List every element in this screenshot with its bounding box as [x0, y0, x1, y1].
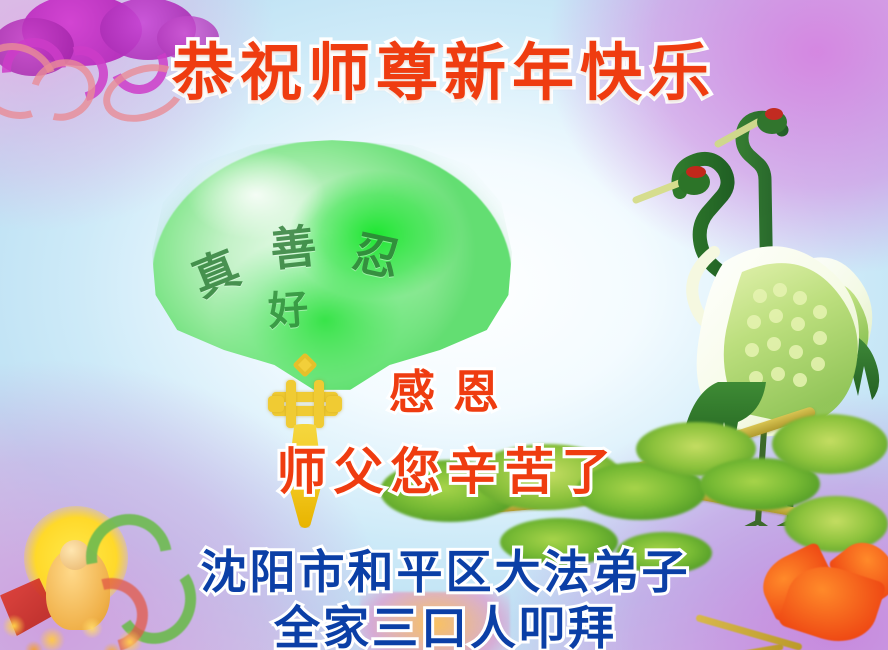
greeting-card: 真 善 忍 好: [0, 0, 888, 650]
gratitude-text: 感恩: [0, 356, 888, 422]
jade-char-ren: 忍: [348, 216, 407, 290]
gratitude-text-second: 师父您辛苦了: [0, 432, 888, 504]
jade-char-hao: 好: [266, 277, 310, 338]
jade-char-zhen: 真: [181, 232, 248, 310]
jade-engraving-arc: 真 善 忍: [186, 206, 476, 302]
jade-char-shan: 善: [267, 210, 320, 280]
card-title: 恭祝师尊新年快乐: [0, 22, 888, 112]
signature-line-two: 全家三口人叩拜: [0, 592, 888, 650]
